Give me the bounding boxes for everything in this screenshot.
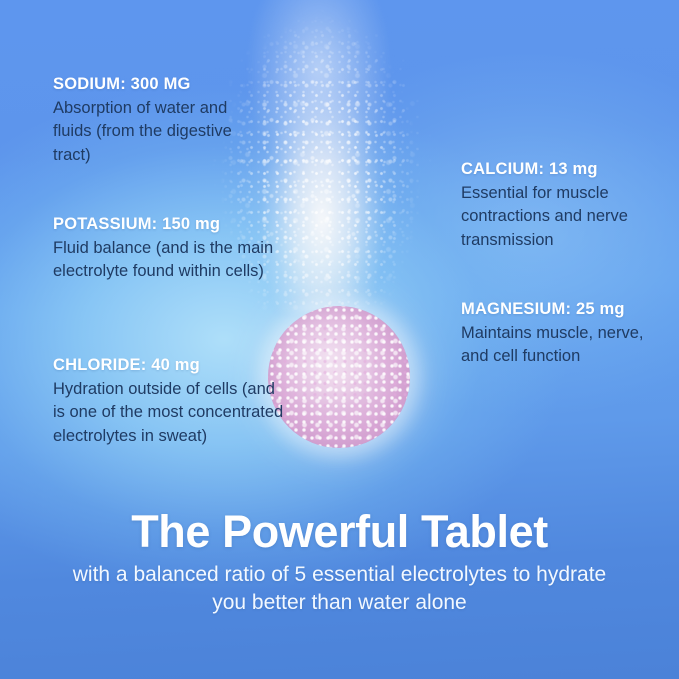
nutrient-heading-chloride: CHLORIDE: 40 mg (53, 355, 288, 377)
nutrient-block-magnesium: MAGNESIUM: 25 mg Maintains muscle, nerve… (461, 299, 666, 369)
nutrient-heading-sodium: SODIUM: 300 MG (53, 74, 268, 96)
nutrient-heading-calcium: CALCIUM: 13 mg (461, 159, 661, 181)
nutrient-block-chloride: CHLORIDE: 40 mg Hydration outside of cel… (53, 355, 288, 448)
tagline-title: The Powerful Tablet (0, 508, 679, 557)
nutrient-block-sodium: SODIUM: 300 MG Absorption of water and f… (53, 74, 268, 167)
nutrient-body-sodium: Absorption of water and fluids (from the… (53, 97, 268, 167)
nutrient-block-calcium: CALCIUM: 13 mg Essential for muscle cont… (461, 159, 661, 252)
effervescent-tablet-icon (268, 306, 410, 448)
electrolyte-infographic: SODIUM: 300 MG Absorption of water and f… (0, 0, 679, 679)
nutrient-heading-magnesium: MAGNESIUM: 25 mg (461, 299, 666, 321)
nutrient-body-magnesium: Maintains muscle, nerve, and cell functi… (461, 322, 666, 369)
tablet-bubble-texture (268, 306, 410, 448)
nutrient-body-potassium: Fluid balance (and is the main electroly… (53, 237, 278, 284)
nutrient-heading-potassium: POTASSIUM: 150 mg (53, 214, 278, 236)
tagline-subtitle: with a balanced ratio of 5 essential ele… (60, 561, 620, 617)
nutrient-block-potassium: POTASSIUM: 150 mg Fluid balance (and is … (53, 214, 278, 284)
tagline-lockup: The Powerful Tablet with a balanced rati… (0, 508, 679, 617)
nutrient-body-chloride: Hydration outside of cells (and is one o… (53, 378, 288, 448)
nutrient-body-calcium: Essential for muscle contractions and ne… (461, 182, 661, 252)
